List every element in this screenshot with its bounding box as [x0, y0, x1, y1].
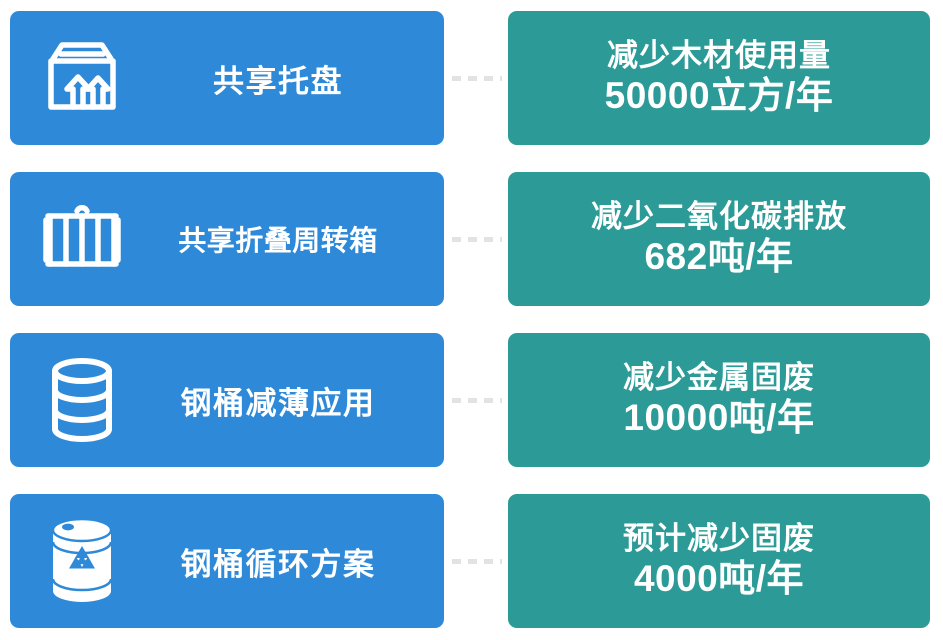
result-title: 减少二氧化碳排放	[591, 199, 847, 236]
result-value: 682吨/年	[644, 235, 793, 279]
result-value: 10000吨/年	[623, 396, 814, 440]
result-card-wood-reduction[interactable]: 减少木材使用量 50000立方/年	[508, 11, 930, 145]
result-title: 减少木材使用量	[607, 38, 831, 75]
result-value: 50000立方/年	[605, 74, 834, 118]
row-connector-dashes	[452, 559, 502, 564]
result-card-co2-reduction[interactable]: 减少二氧化碳排放 682吨/年	[508, 172, 930, 306]
folding-crate-icon	[36, 189, 128, 289]
measure-label: 共享折叠周转箱	[128, 219, 444, 259]
row-connector-dashes	[452, 237, 502, 242]
measure-label: 钢桶减薄应用	[128, 378, 444, 423]
measure-result-row: 共享折叠周转箱 减少二氧化碳排放 682吨/年	[0, 172, 943, 306]
row-connector-dashes	[452, 76, 502, 81]
result-card-metal-waste-reduction[interactable]: 减少金属固废 10000吨/年	[508, 333, 930, 467]
measure-result-row: 钢桶减薄应用 减少金属固废 10000吨/年	[0, 333, 943, 467]
result-title: 减少金属固废	[623, 360, 815, 397]
measure-card-drum-thinning[interactable]: 钢桶减薄应用	[10, 333, 444, 467]
result-card-estimated-waste-reduction[interactable]: 预计减少固废 4000吨/年	[508, 494, 930, 628]
measure-result-row: 共享托盘 减少木材使用量 50000立方/年	[0, 11, 943, 145]
result-value: 4000吨/年	[634, 557, 804, 601]
result-title: 预计减少固废	[623, 521, 815, 558]
measure-result-row: 钢桶循环方案 预计减少固废 4000吨/年	[0, 494, 943, 628]
pallet-icon	[36, 28, 128, 128]
measure-card-drum-recycling[interactable]: 钢桶循环方案	[10, 494, 444, 628]
measure-card-shared-pallet[interactable]: 共享托盘	[10, 11, 444, 145]
measure-card-folding-crate[interactable]: 共享折叠周转箱	[10, 172, 444, 306]
measure-label: 钢桶循环方案	[128, 539, 444, 584]
measure-label: 共享托盘	[128, 56, 444, 101]
recycle-drum-icon	[36, 511, 128, 611]
row-connector-dashes	[452, 398, 502, 403]
infographic-board: 共享托盘 减少木材使用量 50000立方/年	[0, 0, 943, 640]
steel-drum-icon	[36, 350, 128, 450]
